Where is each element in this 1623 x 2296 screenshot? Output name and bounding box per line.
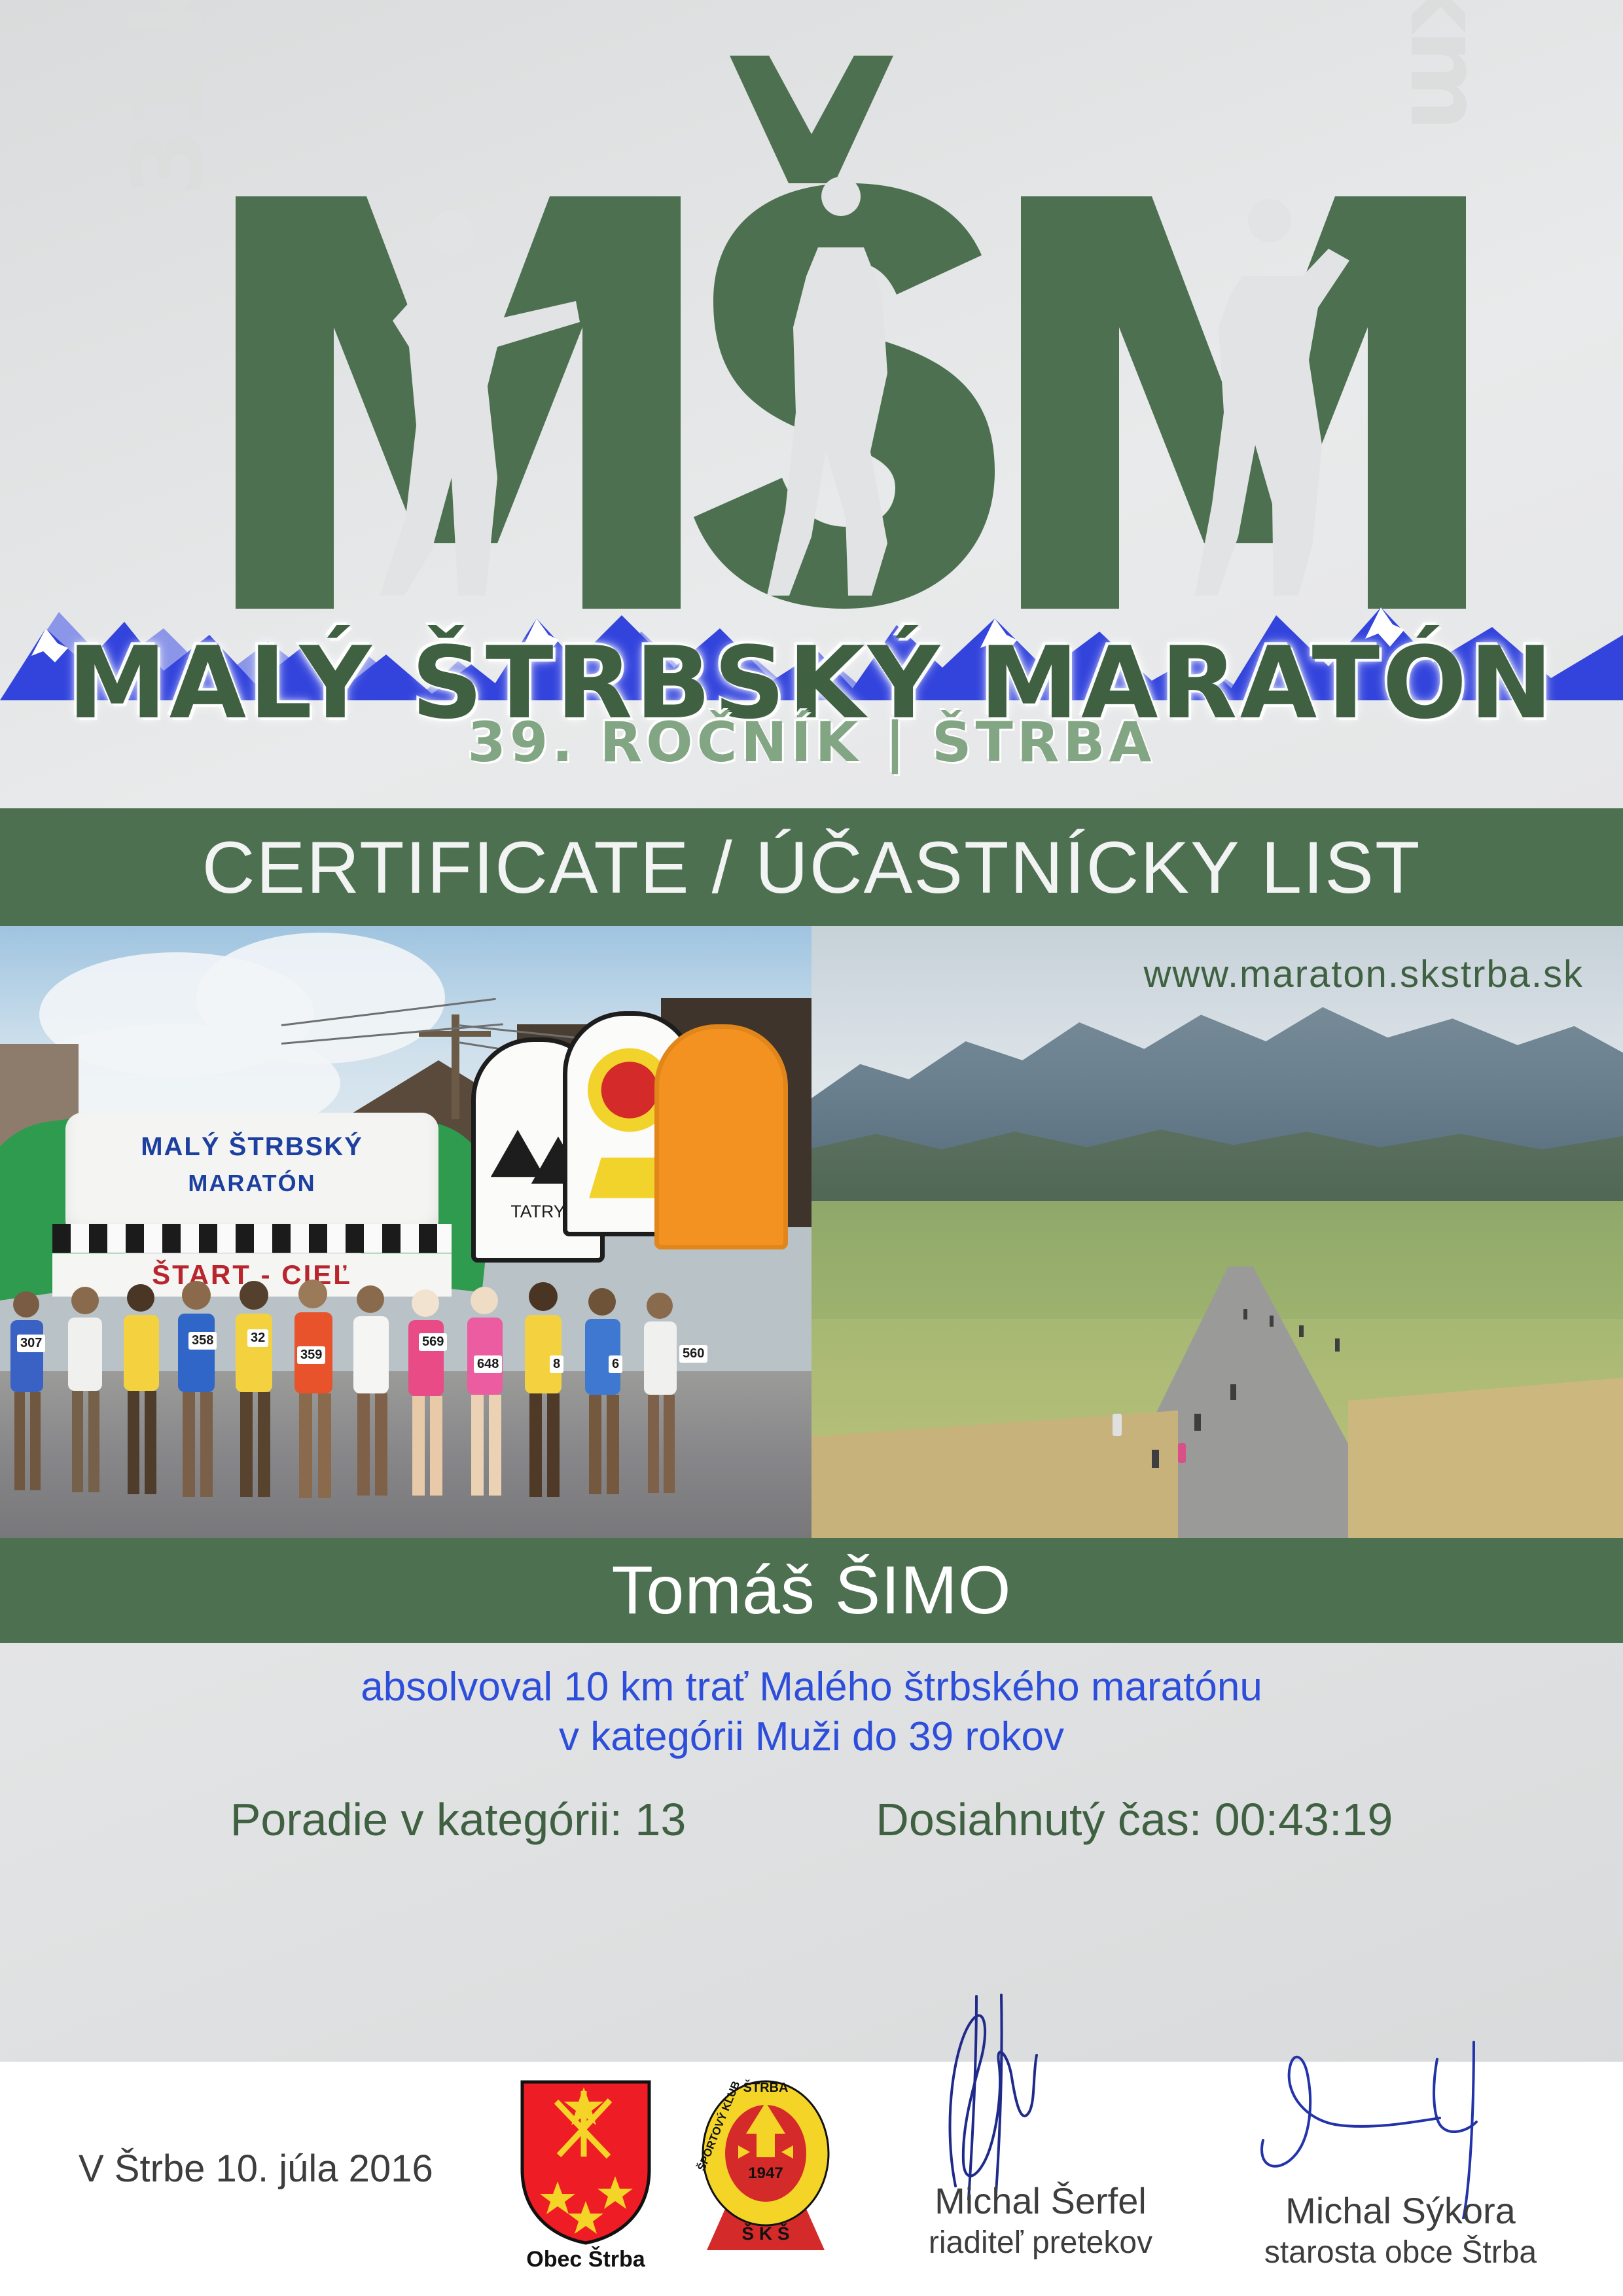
- race-bib: 358: [188, 1332, 217, 1350]
- race-bib: 6: [609, 1355, 622, 1373]
- arch-text: MALÝ ŠTRBSKÝ MARATÓN: [72, 1132, 432, 1197]
- footer: V Štrbe 10. júla 2016 Obec Štrba: [0, 2062, 1623, 2296]
- finish-time-label: Dosiahnutý čas:: [876, 1794, 1202, 1845]
- race-bib: 569: [419, 1333, 447, 1351]
- crest-graphic: Obec Štrba: [510, 2078, 661, 2274]
- participant-name-band: Tomáš ŠIMO: [0, 1538, 1623, 1643]
- signature-mark-sykora: [1243, 2003, 1544, 2219]
- feather-banner-orange: [654, 1024, 788, 1249]
- certificate-page: 31 km 10 km: [0, 0, 1623, 2296]
- utility-pole: [452, 1014, 459, 1119]
- distant-runners: [811, 926, 1623, 1538]
- signature-name: Michal Šerfel: [870, 2179, 1211, 2222]
- runners-crowd: [0, 1273, 811, 1538]
- sks-logo-graphic: 1947 ŠTRBA Š K Š ŠPORTOVÝ KLUB: [687, 2075, 844, 2271]
- photo-race-start: MALÝ ŠTRBSKÝ MARATÓN ŠTART - CIEĽ TATRY: [0, 926, 811, 1538]
- participant-description: absolvoval 10 km trať Malého štrbského m…: [0, 1662, 1623, 1762]
- place-and-date: V Štrbe 10. júla 2016: [79, 2147, 433, 2191]
- race-bib: 359: [297, 1346, 325, 1364]
- finish-time-value: 00:43:19: [1215, 1794, 1393, 1845]
- photo-strip: MALÝ ŠTRBSKÝ MARATÓN ŠTART - CIEĽ TATRY: [0, 926, 1623, 1538]
- category-rank: Poradie v kategórii: 13: [230, 1793, 687, 1846]
- race-bib: 307: [17, 1335, 45, 1352]
- certificate-title-band: CERTIFICATE / ÚČASTNÍCKY LIST: [0, 808, 1623, 926]
- arch-line-2: MARATÓN: [72, 1170, 432, 1197]
- website-url: www.maraton.skstrba.sk: [1143, 952, 1584, 996]
- sks-top-text: ŠTRBA: [743, 2079, 789, 2095]
- signature-name: Michal Sýkora: [1230, 2189, 1571, 2232]
- race-bib: 648: [474, 1355, 502, 1373]
- signature-role: starosta obce Štrba: [1230, 2234, 1571, 2270]
- sks-club-logo: 1947 ŠTRBA Š K Š ŠPORTOVÝ KLUB: [687, 2075, 844, 2271]
- certificate-title: CERTIFICATE / ÚČASTNÍCKY LIST: [202, 825, 1421, 910]
- obec-strba-crest: Obec Štrba: [510, 2078, 661, 2274]
- signature-block-mayor: Michal Sýkora starosta obce Štrba: [1230, 2189, 1571, 2270]
- photo-landscape: www.maraton.skstrba.sk: [811, 926, 1623, 1538]
- sks-initials: Š K Š: [741, 2223, 789, 2244]
- race-bib: 8: [550, 1355, 563, 1373]
- finish-time: Dosiahnutý čas: 00:43:19: [876, 1793, 1393, 1846]
- category-rank-label: Poradie v kategórii:: [230, 1794, 622, 1845]
- signature-role: riaditeľ pretekov: [870, 2225, 1211, 2261]
- event-subtitle: 39. ROČNÍK | ŠTRBA: [0, 710, 1623, 774]
- sks-year: 1947: [748, 2164, 783, 2182]
- race-bib: 32: [247, 1329, 268, 1347]
- msm-letters-graphic: [0, 20, 1623, 609]
- arch-line-1: MALÝ ŠTRBSKÝ: [72, 1132, 432, 1162]
- utility-pole-crossbar: [419, 1031, 491, 1037]
- svg-text:TATRY: TATRY: [510, 1202, 565, 1221]
- signature-block-race-director: Michal Šerfel riaditeľ pretekov: [870, 2179, 1211, 2261]
- description-line-1: absolvoval 10 km trať Malého štrbského m…: [0, 1662, 1623, 1712]
- category-rank-value: 13: [635, 1794, 686, 1845]
- race-bib: 560: [679, 1345, 707, 1363]
- signature-mark-serfel: [916, 1990, 1152, 2206]
- participant-name: Tomáš ŠIMO: [612, 1552, 1012, 1630]
- checkered-stripe: [52, 1224, 452, 1253]
- result-row: Poradie v kategórii: 13 Dosiahnutý čas: …: [0, 1793, 1623, 1846]
- crest-label: Obec Štrba: [526, 2246, 645, 2272]
- event-logo: 31 km 10 km: [0, 0, 1623, 805]
- description-line-2: v kategórii Muži do 39 rokov: [0, 1712, 1623, 1762]
